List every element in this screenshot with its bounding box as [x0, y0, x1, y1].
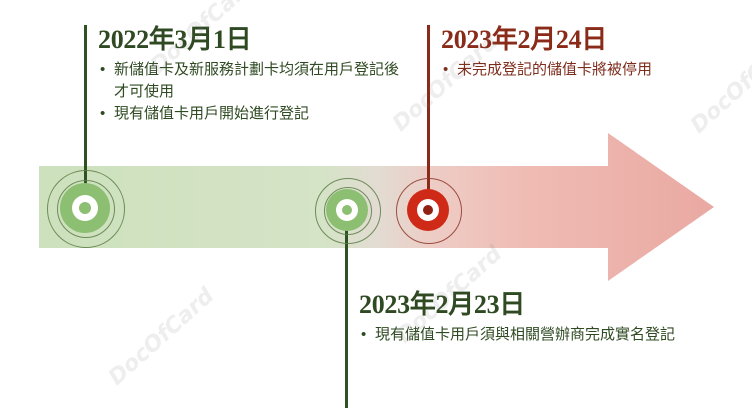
event-block-3: 2023年2月24日 未完成登記的儲值卡將被停用: [427, 25, 667, 81]
event-2-bullet-0: 現有儲值卡用戶須與相關營辦商完成實名登記: [359, 324, 693, 346]
event-2-date: 2023年2月23日: [359, 290, 693, 320]
event-1-accent-bar: [84, 25, 87, 135]
event-1-date: 2022年3月1日: [98, 25, 404, 55]
event-2-accent-bar: [345, 290, 348, 382]
event-3-accent-bar: [427, 25, 430, 113]
marker-3-center-dot: [423, 205, 433, 215]
timeline-infographic: 2022年3月1日 新儲值卡及新服務計劃卡均須在用戶登記後才可使用 現有儲值卡用…: [0, 0, 752, 412]
marker-1-center-dot: [79, 202, 91, 214]
event-3-bullet-0: 未完成登記的儲值卡將被停用: [441, 59, 667, 81]
event-3-date: 2023年2月24日: [441, 25, 667, 55]
event-3-bullet-list: 未完成登記的儲值卡將被停用: [441, 59, 667, 81]
event-2-bullet-list: 現有儲值卡用戶須與相關營辦商完成實名登記: [359, 324, 693, 346]
event-1-bullet-1: 現有儲值卡用戶開始進行登記: [98, 103, 404, 125]
event-block-1: 2022年3月1日 新儲值卡及新服務計劃卡均須在用戶登記後才可使用 現有儲值卡用…: [84, 25, 404, 125]
marker-2-center-dot: [342, 205, 352, 215]
event-1-bullet-list: 新儲值卡及新服務計劃卡均須在用戶登記後才可使用 現有儲值卡用戶開始進行登記: [98, 59, 404, 125]
event-1-bullet-0: 新儲值卡及新服務計劃卡均須在用戶登記後才可使用: [98, 59, 404, 103]
event-block-2: 2023年2月23日 現有儲值卡用戶須與相關營辦商完成實名登記: [345, 290, 693, 346]
